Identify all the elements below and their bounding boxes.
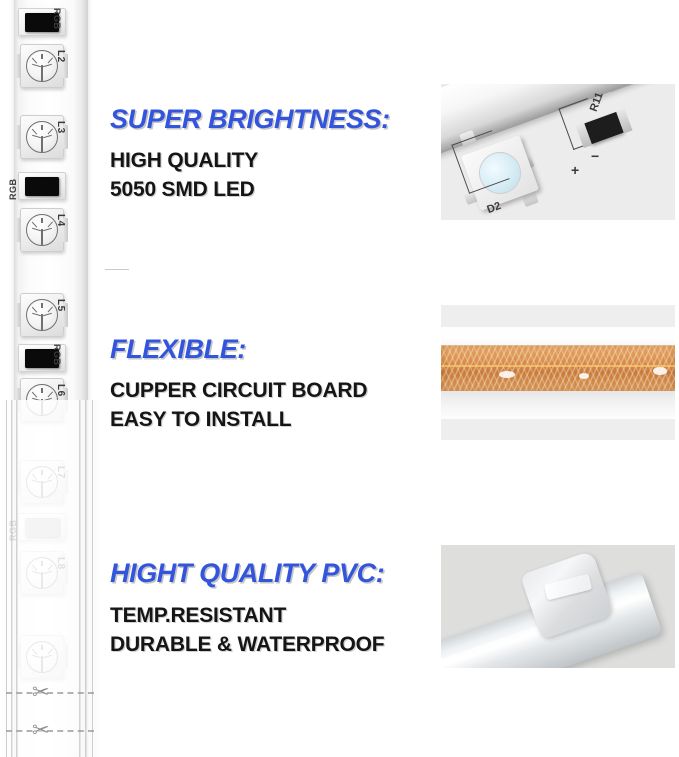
smd-led-closeup-photo: R11 D2 + − [441, 84, 675, 220]
led-label-l4: L4 [55, 214, 66, 227]
led-label-l3: L3 [55, 121, 66, 134]
pvc-sleeve-end-photo [441, 545, 675, 668]
rgb-component-label: RGB [52, 8, 62, 30]
feature-heading-super-brightness: SUPER BRIGHTNESS: [110, 104, 390, 135]
led-label-l6: L6 [55, 384, 66, 397]
feature-line-high-quality: HIGH QUALITY [110, 146, 258, 175]
feature-line-temp-resistant: TEMP.RESISTANT [110, 601, 286, 630]
feature-line-easy-to-install: EASY TO INSTALL [110, 405, 291, 434]
led-phosphor-dome [26, 50, 58, 82]
feature-line-durable-waterproof: DURABLE & WATERPROOF [110, 630, 384, 659]
feature-heading-flexible: FLEXIBLE: [110, 334, 246, 365]
scissors-icon: ✂ [32, 680, 50, 706]
scissors-icon: ✂ [32, 718, 50, 744]
led-phosphor-dome [26, 214, 58, 246]
cut-dashed-line [6, 730, 94, 732]
cut-line-marker: ✂ [6, 718, 94, 744]
cut-dashed-line [6, 692, 94, 694]
feature-line-5050-smd-led: 5050 SMD LED [110, 175, 255, 204]
rgb-component-label: RGB [8, 179, 18, 201]
copper-circuit-band [441, 345, 675, 391]
rgb-chip-body [25, 177, 59, 196]
copper-circuit-board-photo [441, 305, 675, 440]
feature-heading-hight-quality-pvc: HIGHT QUALITY PVC: [110, 558, 384, 589]
tube-bottom-highlight [441, 391, 675, 419]
highlight-speck [499, 371, 515, 378]
led-label-l2: L2 [55, 50, 66, 63]
rgb-component [18, 172, 66, 200]
led-strip-illustration: RGB L2 L3 RGB L4 [0, 0, 100, 757]
silkscreen-label-minus: − [591, 148, 599, 164]
cut-line-marker: ✂ [6, 680, 94, 706]
section-divider-tick [105, 269, 129, 270]
rgb-component-label: RGB [52, 344, 62, 366]
silkscreen-label-plus: + [571, 162, 579, 178]
highlight-speck [579, 373, 589, 379]
feature-line-cupper-circuit-board: CUPPER CIRCUIT BOARD [110, 376, 367, 405]
led-phosphor-dome [26, 121, 58, 153]
led-phosphor-dome [26, 299, 58, 331]
tube-top-highlight [441, 327, 675, 346]
highlight-speck [653, 367, 667, 375]
led-label-l5: L5 [55, 299, 66, 312]
copper-trace-line [441, 365, 675, 367]
product-infographic: RGB L2 L3 RGB L4 [0, 0, 679, 757]
